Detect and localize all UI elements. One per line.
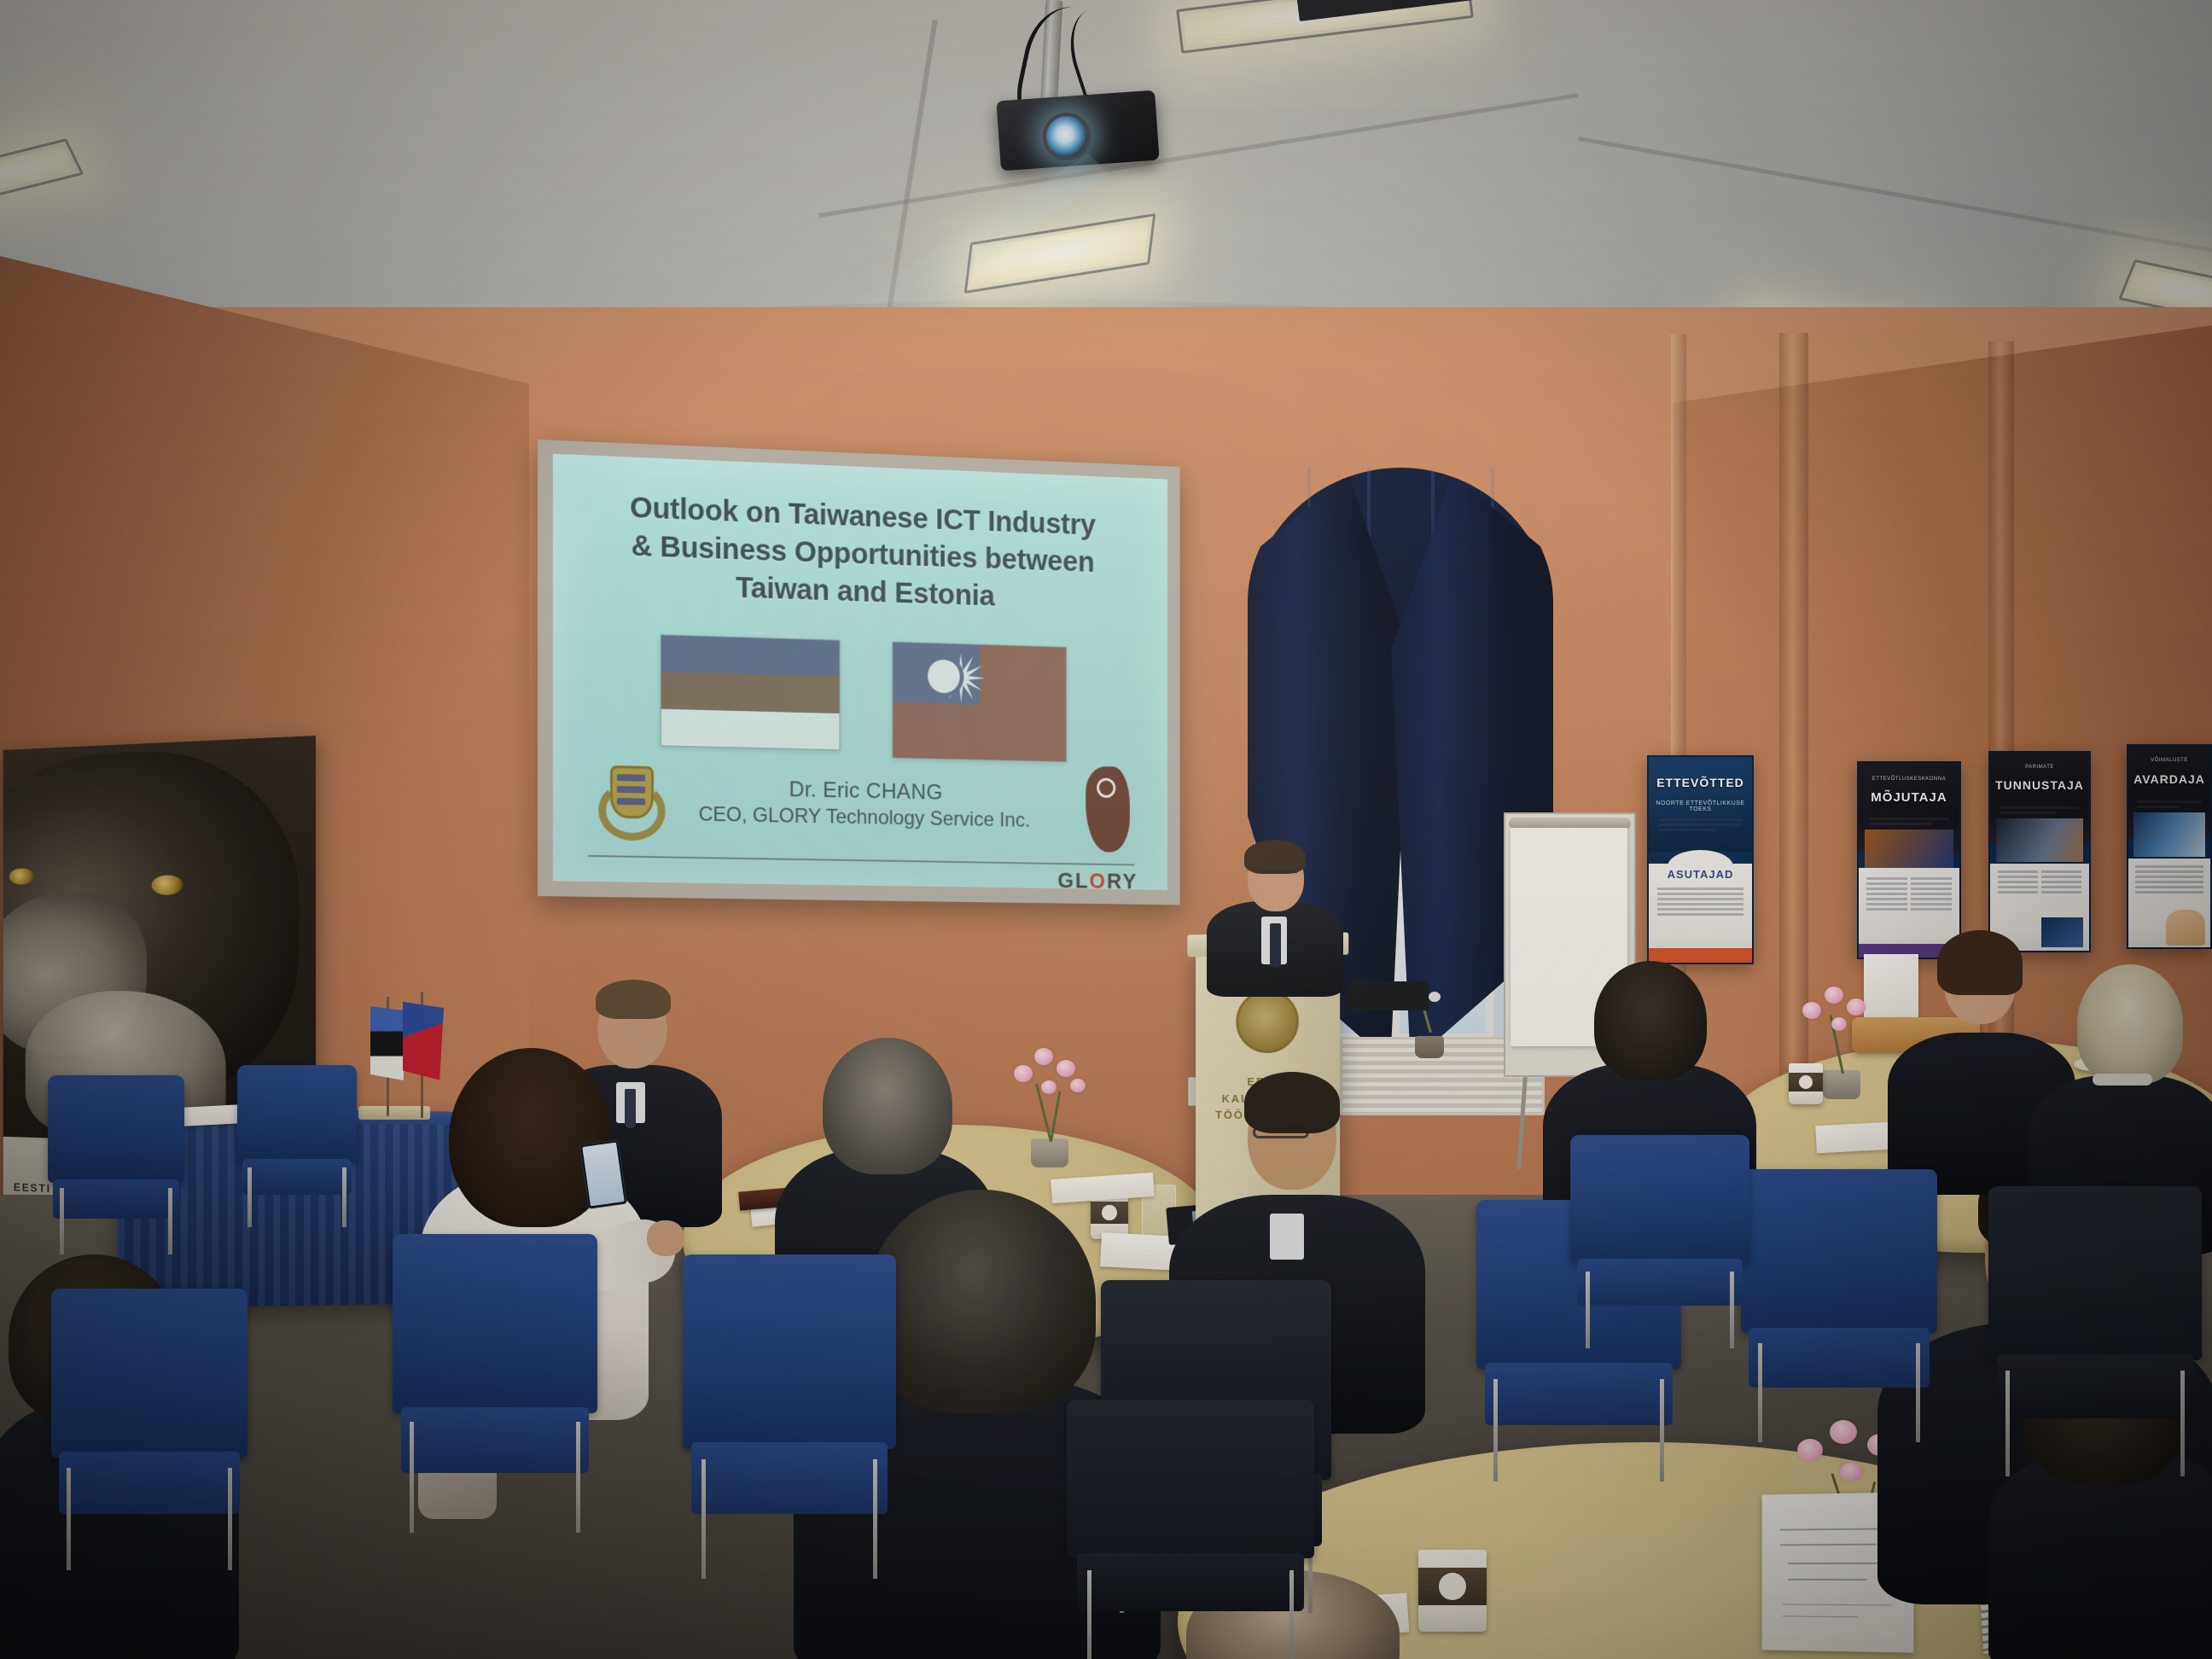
orchid-centerpiece-left xyxy=(998,1039,1101,1167)
poster-heading-3: TUNNUSTAJA xyxy=(1994,778,2086,792)
chair-left-1[interactable] xyxy=(48,1075,184,1254)
presentation-slide: Outlook on Taiwanese ICT Industry & Busi… xyxy=(553,454,1167,890)
poster-badge-1: ASUTAJAD xyxy=(1649,868,1752,881)
taiwan-island-icon xyxy=(1086,766,1130,853)
slide-presenter-block: Dr. Eric CHANG CEO, GLORY Technology Ser… xyxy=(553,771,1167,835)
chamber-emblem-icon xyxy=(1236,990,1299,1053)
slide-flag-row xyxy=(553,632,1167,765)
projection-screen: Outlook on Taiwanese ICT Industry & Busi… xyxy=(538,439,1180,905)
chair-center-2[interactable] xyxy=(683,1254,896,1579)
coffee-cup-right-table[interactable] xyxy=(1789,1063,1823,1104)
poster-subheading-1: NOORTE ETTEVÕTLIKKUSE TOEKS xyxy=(1654,800,1747,812)
chair-foreground-left[interactable] xyxy=(1067,1400,1314,1659)
poster-subheading-4: VÕIMALUSTE xyxy=(2133,758,2205,763)
chair-center-1[interactable] xyxy=(393,1234,597,1533)
chair-back-right[interactable] xyxy=(1570,1135,1749,1348)
poster-heading-4: AVARDAJA xyxy=(2132,772,2207,786)
projector-lens-icon xyxy=(1043,113,1091,160)
chair-right-2[interactable] xyxy=(1741,1169,1937,1442)
poster-subheading-3: PARIMATE xyxy=(1995,765,2084,770)
eyeglasses-icon xyxy=(1253,1126,1309,1138)
av-equipment-box xyxy=(1347,981,1429,1010)
glory-logo-right: RY xyxy=(1107,869,1138,890)
poster-heading-1: ETTEVÕTTED xyxy=(1652,776,1749,789)
poster-avardaja: VÕIMALUSTE AVARDAJA xyxy=(2127,744,2212,949)
presenter-glasses-icon xyxy=(1256,870,1297,879)
glory-logo: GLORY technology xyxy=(1057,868,1138,890)
poster-ettevotted: ETTEVÕTTED NOORTE ETTEVÕTLIKKUSE TOEKS A… xyxy=(1647,755,1754,964)
chair-right-3[interactable] xyxy=(1988,1186,2202,1476)
presenter-at-podium xyxy=(1207,838,1343,992)
glory-logo-left: GL xyxy=(1057,868,1089,890)
presenter-hair xyxy=(1244,840,1306,874)
poster-subheading-2: ETTEVÕTLUSKESKKONNA xyxy=(1864,777,1954,782)
slide-divider xyxy=(588,855,1134,865)
dog-banner-footer-text: EESTI xyxy=(14,1180,51,1195)
chair-left-3[interactable] xyxy=(51,1289,247,1570)
foreground-hair xyxy=(867,1190,1096,1413)
chair-left-2[interactable] xyxy=(237,1065,357,1227)
poster-heading-2: MÕJUTAJA xyxy=(1862,790,1956,805)
taiwan-roc-flag-icon xyxy=(892,642,1067,763)
slide-title: Outlook on Taiwanese ICT Industry & Busi… xyxy=(553,486,1167,621)
glory-logo-accent: O xyxy=(1089,868,1107,889)
grey-hair xyxy=(823,1038,952,1174)
wall-pillar xyxy=(1779,333,1808,1084)
womans-hand xyxy=(647,1220,684,1256)
poster-tunnustaja: PARIMATE TUNNUSTAJA xyxy=(1988,751,2091,952)
estonia-flag-icon xyxy=(661,634,841,750)
conference-room-photo: Outlook on Taiwanese ICT Industry & Busi… xyxy=(0,0,2212,1659)
